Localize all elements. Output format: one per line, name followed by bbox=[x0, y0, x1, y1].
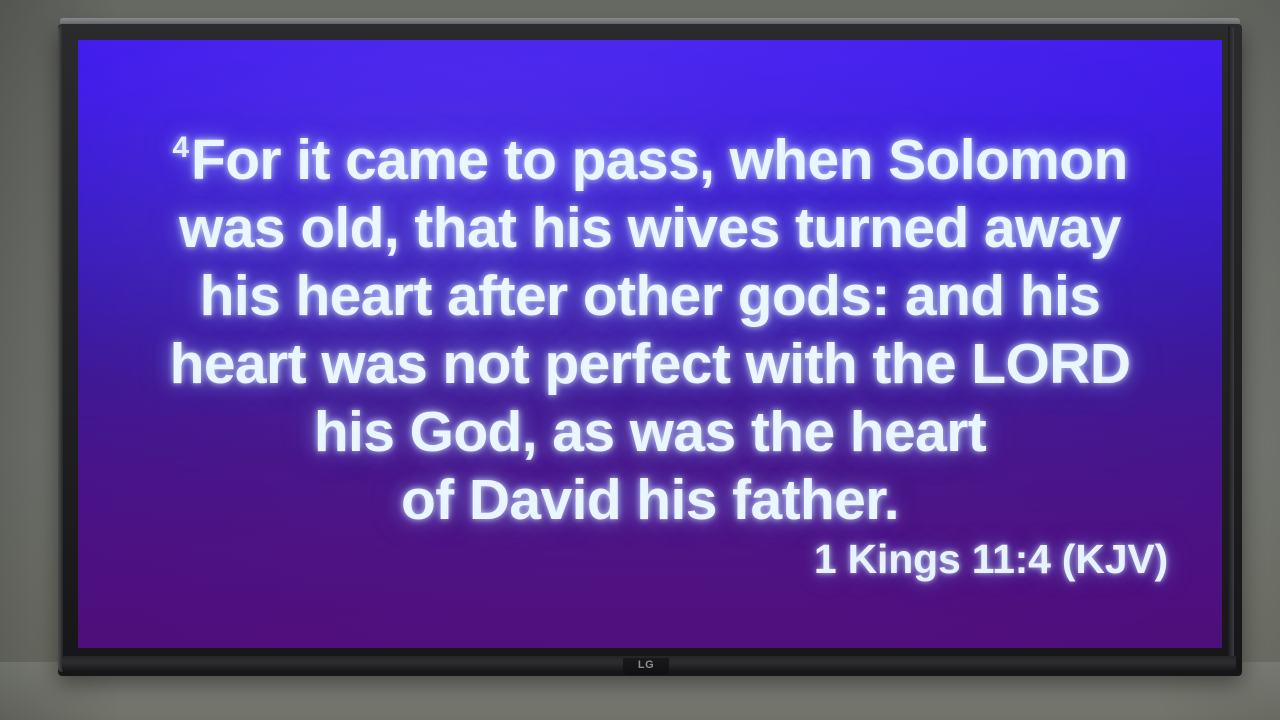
lg-logo: LG bbox=[638, 660, 654, 671]
tv-screen: 4For it came to pass, when Solomon was o… bbox=[78, 40, 1222, 648]
verse-line-2: was old, that his wives turned away bbox=[78, 194, 1222, 262]
scripture-reference: 1 Kings 11:4 (KJV) bbox=[814, 536, 1168, 583]
tv-bezel-left bbox=[58, 26, 63, 672]
verse-line-5: his God, as was the heart bbox=[78, 398, 1222, 466]
verse-line-4: heart was not perfect with the LORD bbox=[78, 330, 1222, 398]
verse-text-block: 4For it came to pass, when Solomon was o… bbox=[78, 114, 1222, 534]
verse-line-3: his heart after other gods: and his bbox=[78, 262, 1222, 330]
verse-line-6: of David his father. bbox=[78, 466, 1222, 534]
verse-line-1-text: For it came to pass, when Solomon bbox=[191, 128, 1128, 192]
television: 4For it came to pass, when Solomon was o… bbox=[50, 18, 1242, 676]
tv-brand-nub: LG bbox=[623, 658, 669, 675]
scripture-slide: 4For it came to pass, when Solomon was o… bbox=[78, 40, 1222, 648]
verse-line-1: 4For it came to pass, when Solomon bbox=[78, 114, 1222, 194]
tv-bezel-right bbox=[1228, 26, 1234, 672]
verse-number: 4 bbox=[172, 131, 191, 164]
scene-root: 4For it came to pass, when Solomon was o… bbox=[0, 0, 1280, 720]
